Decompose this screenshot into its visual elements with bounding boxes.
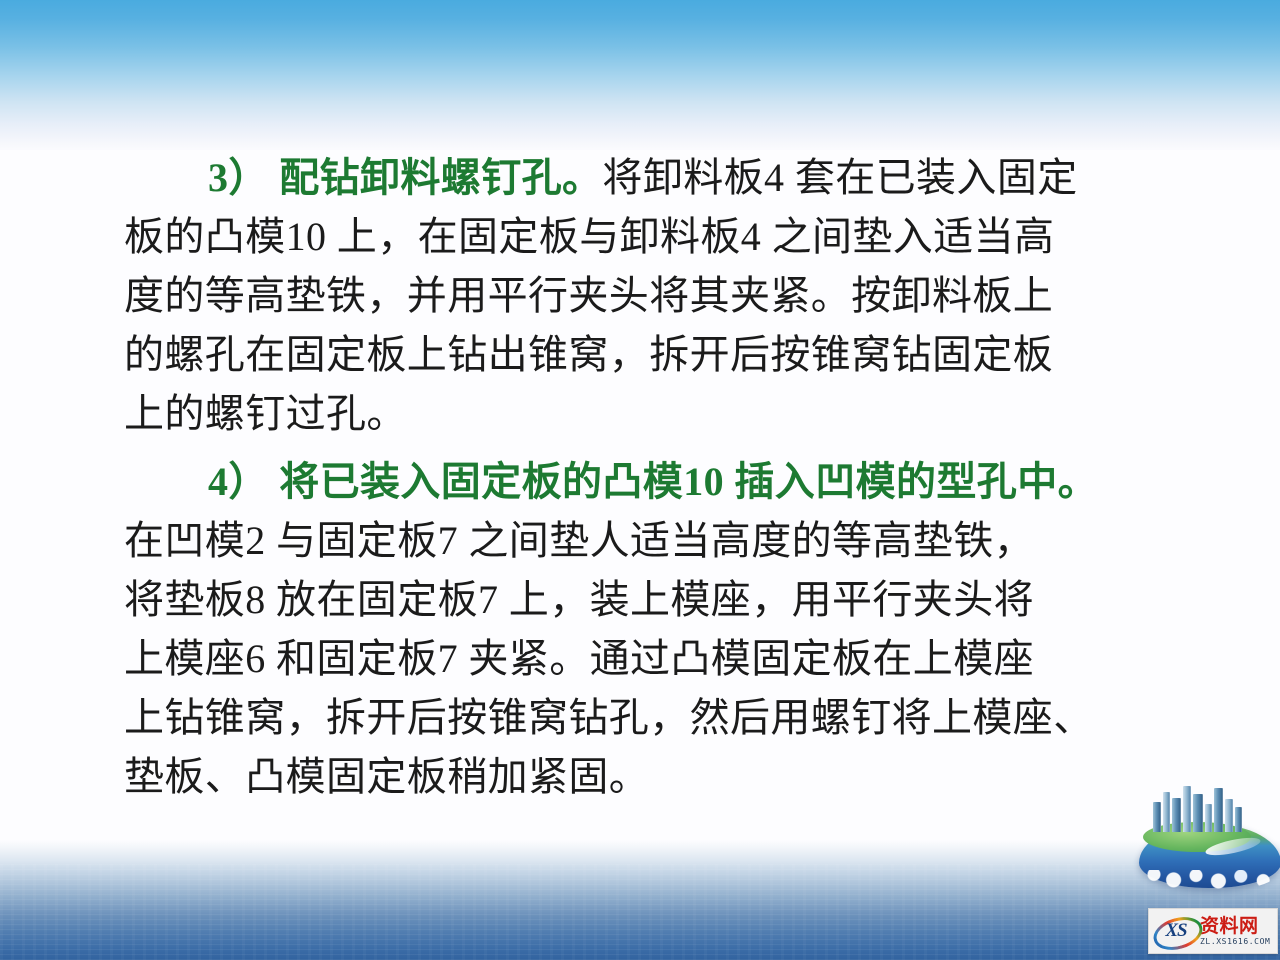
building xyxy=(1214,788,1223,832)
watermark-site-name: 资料网 xyxy=(1200,916,1274,936)
list-marker-3: 3） xyxy=(208,155,269,200)
city-island-icon xyxy=(1135,778,1280,900)
paragraph-line: 在凹模2 与固定板7 之间垫人适当高度的等高垫铁， xyxy=(124,511,1169,570)
paragraph-line: 垫板、凸模固定板稍加紧固。 xyxy=(124,747,1169,806)
watermark-site-url: ZL.XS1616.COM xyxy=(1200,936,1274,947)
logo-text: XS xyxy=(1161,920,1191,941)
paragraph-line: 度的等高垫铁，并用平行夹头将其夹紧。按卸料板上 xyxy=(124,266,1169,325)
building xyxy=(1183,786,1191,832)
watermark-badge: XS 资料网 ZL.XS1616.COM xyxy=(1148,908,1278,954)
xs-logo-icon: XS xyxy=(1152,914,1198,948)
building xyxy=(1225,799,1233,832)
paragraph-item-4: 4） 将已装入固定板的凸模10 插入凹模的型孔中。 在凹模2 与固定板7 之间垫… xyxy=(124,452,1169,806)
paragraph-line: 板的凸模10 上，在固定板与卸料板4 之间垫入适当高 xyxy=(124,207,1169,266)
building xyxy=(1153,802,1161,832)
heading-4: 4） 将已装入固定板的凸模10 插入凹模的型孔中。 xyxy=(124,452,1169,511)
island-foam xyxy=(1140,870,1280,892)
paragraph-line: 3） 配钻卸料螺钉孔。将卸料板4 套在已装入固定 xyxy=(124,148,1169,207)
paragraph-line: 的螺孔在固定板上钻出锥窝，拆开后按锥窝钻固定板 xyxy=(124,325,1169,384)
body-text: 将卸料板4 套在已装入固定 xyxy=(602,155,1077,200)
paragraph-line: 上钻锥窝，拆开后按锥窝钻孔，然后用螺钉将上模座、 xyxy=(124,688,1169,747)
slide-canvas: 3） 配钻卸料螺钉孔。将卸料板4 套在已装入固定 板的凸模10 上，在固定板与卸… xyxy=(0,0,1280,960)
building xyxy=(1205,804,1212,832)
city-skyline xyxy=(1151,780,1247,832)
paragraph-item-3: 3） 配钻卸料螺钉孔。将卸料板4 套在已装入固定 板的凸模10 上，在固定板与卸… xyxy=(124,148,1169,443)
paragraph-line: 将垫板8 放在固定板7 上，装上模座，用平行夹头将 xyxy=(124,570,1169,629)
paragraph-line: 上的螺钉过孔。 xyxy=(124,384,1169,443)
building xyxy=(1193,794,1203,832)
heading-3: 配钻卸料螺钉孔。 xyxy=(269,155,603,200)
watermark-text-group: 资料网 ZL.XS1616.COM xyxy=(1198,916,1274,947)
building xyxy=(1163,792,1170,832)
building xyxy=(1235,807,1242,832)
paragraph-line: 上模座6 和固定板7 夹紧。通过凸模固定板在上模座 xyxy=(124,629,1169,688)
slide-content: 3） 配钻卸料螺钉孔。将卸料板4 套在已装入固定 板的凸模10 上，在固定板与卸… xyxy=(0,0,1280,960)
building xyxy=(1172,798,1181,832)
